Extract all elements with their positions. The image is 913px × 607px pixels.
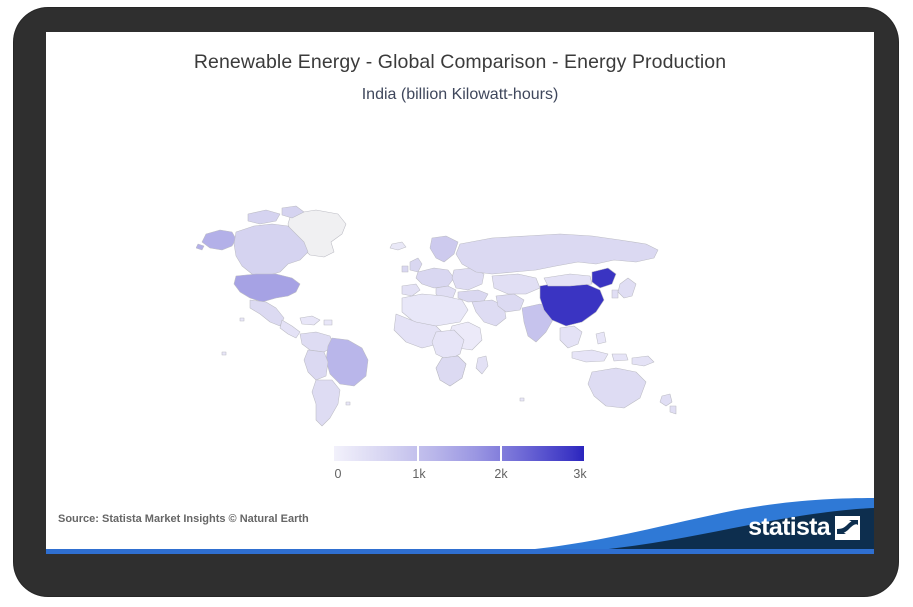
country-united-states[interactable] — [234, 274, 300, 302]
legend-gradient-bar[interactable] — [334, 446, 584, 461]
country-argentina-chile[interactable] — [312, 380, 340, 426]
legend-tick-labels: 0 1k 2k 3k — [334, 467, 584, 485]
footer-accent-rule — [46, 549, 874, 554]
world-choropleth-map[interactable] — [196, 200, 696, 450]
footer: Source: Statista Market Insights © Natur… — [46, 498, 874, 554]
statista-wordmark: statista — [748, 515, 830, 540]
country-russia[interactable] — [456, 234, 658, 274]
country-brazil[interactable] — [326, 338, 368, 386]
country-central-america[interactable] — [280, 320, 300, 338]
country-alaska[interactable] — [196, 230, 236, 250]
country-australia[interactable] — [588, 368, 646, 408]
country-mongolia[interactable] — [544, 274, 592, 286]
country-iceland[interactable] — [390, 242, 406, 250]
country-philippines[interactable] — [596, 332, 606, 344]
page-title: Renewable Energy - Global Comparison - E… — [46, 51, 874, 74]
chart-subtitle: India (billion Kilowatt-hours) — [46, 86, 874, 104]
statista-logo[interactable]: statista — [748, 515, 860, 540]
map-svg — [196, 200, 696, 450]
country-scandinavia[interactable] — [430, 236, 458, 262]
device-bezel: Renewable Energy - Global Comparison - E… — [14, 8, 898, 596]
statista-logo-mark-icon — [835, 516, 860, 540]
country-indonesia[interactable] — [572, 350, 628, 362]
country-turkey[interactable] — [458, 290, 488, 302]
country-western-europe[interactable] — [416, 268, 454, 288]
country-iberia[interactable] — [402, 284, 420, 296]
legend-tick-2k: 2k — [494, 467, 507, 481]
source-note: Source: Statista Market Insights © Natur… — [58, 513, 309, 525]
legend-tick-0: 0 — [335, 467, 342, 481]
legend-separator-2k — [500, 446, 502, 461]
legend-tick-1k: 1k — [412, 467, 425, 481]
country-northeast-china[interactable] — [592, 268, 616, 288]
legend-separator-1k — [417, 446, 419, 461]
logo-mark-svg — [835, 516, 860, 540]
country-new-zealand[interactable] — [660, 394, 676, 414]
legend-tick-3k: 3k — [573, 467, 586, 481]
chart-card: Renewable Energy - Global Comparison - E… — [46, 32, 874, 554]
country-southeast-asia[interactable] — [560, 326, 582, 348]
country-caribbean[interactable] — [300, 316, 332, 325]
country-central-asia[interactable] — [492, 274, 540, 294]
country-mexico[interactable] — [250, 300, 284, 326]
country-japan[interactable] — [612, 278, 636, 298]
country-southern-africa-2[interactable] — [436, 356, 466, 386]
country-peru-bolivia[interactable] — [304, 350, 328, 380]
country-papua-new-guinea[interactable] — [632, 356, 654, 366]
country-madagascar[interactable] — [476, 356, 488, 374]
map-countries — [196, 206, 676, 426]
legend: 0 1k 2k 3k — [334, 446, 584, 485]
country-united-kingdom[interactable] — [402, 258, 422, 272]
